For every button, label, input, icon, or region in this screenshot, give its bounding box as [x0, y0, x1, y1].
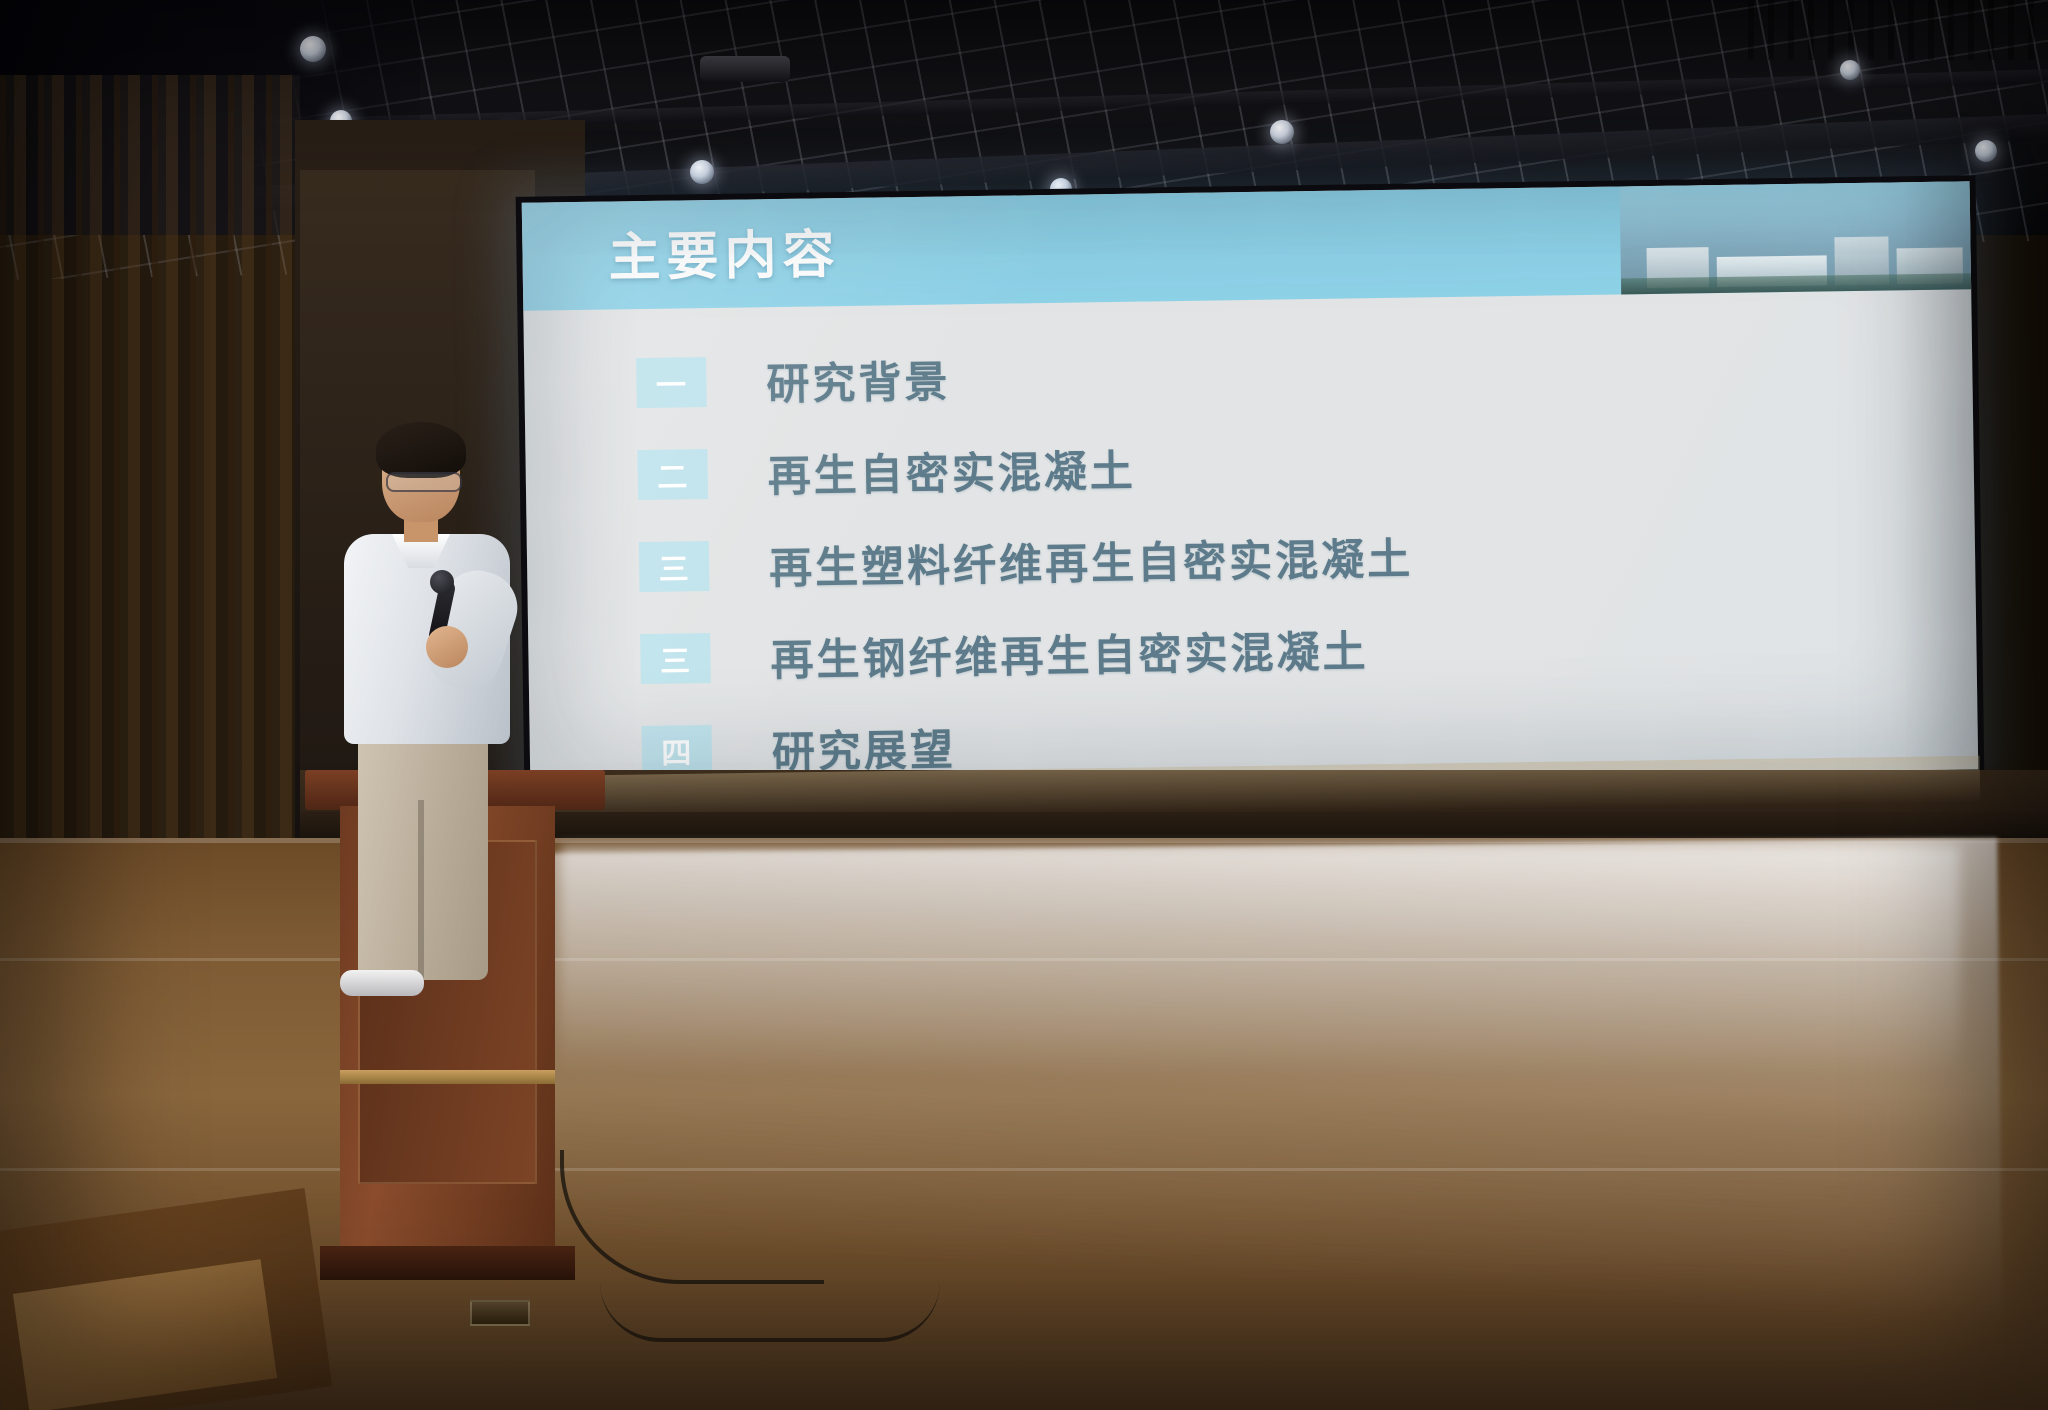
agenda-item-label: 再生钢纤维再生自密实混凝土	[770, 617, 1369, 688]
stage-light-icon	[300, 36, 326, 62]
speaker-hand	[426, 626, 468, 668]
floor-outlet-icon	[470, 1300, 530, 1326]
speaker	[330, 430, 530, 990]
projection-screen[interactable]: 主要内容 一 研究背景 二 再生自密实混凝土 三 再生塑料纤维再生自密实混凝土 …	[516, 175, 1985, 797]
agenda-item: 三 再生钢纤维再生自密实混凝土	[640, 598, 1931, 701]
podium-base	[320, 1246, 575, 1280]
glasses-icon	[386, 472, 462, 492]
agenda-item-label: 研究背景	[766, 347, 951, 412]
speaker-hair	[376, 422, 466, 478]
agenda-number-badge: 三	[639, 541, 710, 592]
slide-header-band: 主要内容	[522, 181, 1971, 310]
stage-light-icon	[1840, 60, 1860, 80]
speaker-shoe	[340, 970, 424, 996]
red-valance	[1748, 0, 2048, 60]
agenda-number-badge: 二	[637, 449, 708, 500]
agenda-list: 一 研究背景 二 再生自密实混凝土 三 再生塑料纤维再生自密实混凝土 三 再生钢…	[636, 322, 1933, 791]
agenda-item-label: 再生自密实混凝土	[767, 437, 1136, 504]
agenda-item-label: 再生塑料纤维再生自密实混凝土	[769, 525, 1414, 597]
slide-title: 主要内容	[608, 212, 841, 290]
stage-curtain	[0, 75, 300, 955]
agenda-item: 一 研究背景	[636, 322, 1927, 425]
stage-edge	[0, 838, 2048, 843]
agenda-item: 二 再生自密实混凝土	[637, 414, 1928, 517]
campus-photo-icon	[1620, 181, 1972, 294]
agenda-number-badge: 三	[640, 633, 711, 684]
presentation-slide: 主要内容 一 研究背景 二 再生自密实混凝土 三 再生塑料纤维再生自密实混凝土 …	[522, 181, 1979, 790]
microphone-head-icon	[430, 570, 454, 594]
agenda-number-badge: 四	[641, 725, 712, 776]
stage-light-icon	[1975, 140, 1997, 162]
projector-unit	[700, 56, 790, 82]
speaker-leg-seam	[418, 800, 424, 980]
conference-hall-scene: 主要内容 一 研究背景 二 再生自密实混凝土 三 再生塑料纤维再生自密实混凝土 …	[0, 0, 2048, 1410]
floor-cable	[600, 1278, 940, 1342]
agenda-item: 三 再生塑料纤维再生自密实混凝土	[639, 506, 1930, 609]
agenda-number-badge: 一	[636, 357, 707, 408]
podium-trim	[340, 1070, 555, 1084]
stage-light-icon	[1270, 120, 1294, 144]
stage-light-icon	[690, 160, 714, 184]
